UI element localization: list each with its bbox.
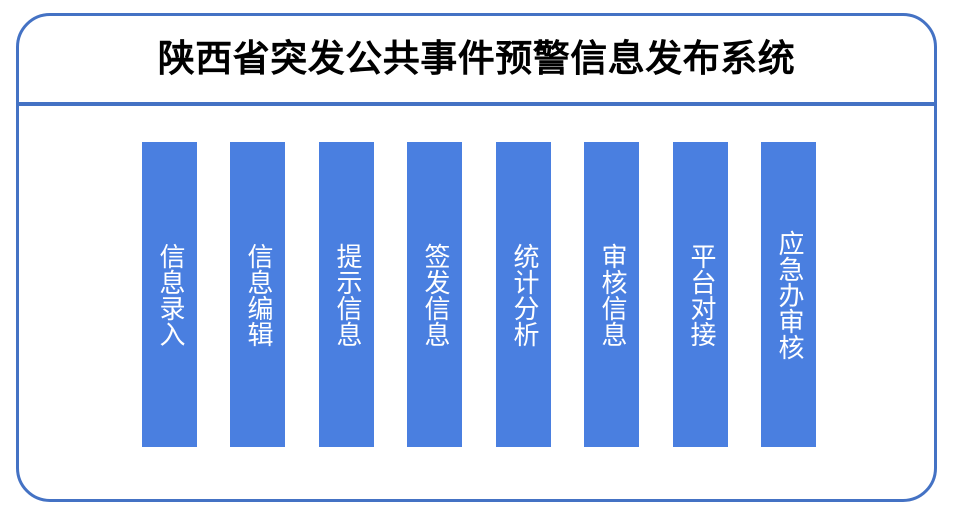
diagram-canvas: 陕西省突发公共事件预警信息发布系统 信息录入 信息编辑 提示信息 签发信息 统计… <box>0 0 955 516</box>
module-bar-prompt-information[interactable]: 提示信息 <box>319 142 374 447</box>
module-bar-label: 应急办审核 <box>774 230 803 360</box>
module-bar-label: 签发信息 <box>420 243 449 347</box>
module-bar-issue-information[interactable]: 签发信息 <box>407 142 462 447</box>
module-bar-label: 审核信息 <box>597 243 626 347</box>
diagram-outer-frame: 陕西省突发公共事件预警信息发布系统 信息录入 信息编辑 提示信息 签发信息 统计… <box>16 13 937 502</box>
module-bar-label: 统计分析 <box>509 243 538 347</box>
module-bar-label: 提示信息 <box>332 243 361 347</box>
module-bar-statistical-analysis[interactable]: 统计分析 <box>496 142 551 447</box>
page-title: 陕西省突发公共事件预警信息发布系统 <box>158 40 796 79</box>
module-bar-platform-docking[interactable]: 平台对接 <box>673 142 728 447</box>
module-bar-label: 信息编辑 <box>243 243 272 347</box>
module-bars-row: 信息录入 信息编辑 提示信息 签发信息 统计分析 审核信息 平台对接 应急办审 <box>19 106 934 499</box>
module-bar-review-information[interactable]: 审核信息 <box>584 142 639 447</box>
module-bar-information-entry[interactable]: 信息录入 <box>142 142 197 447</box>
module-bar-label: 信息录入 <box>155 243 184 347</box>
diagram-header: 陕西省突发公共事件预警信息发布系统 <box>19 16 934 102</box>
module-bar-label: 平台对接 <box>686 243 715 347</box>
module-bar-information-edit[interactable]: 信息编辑 <box>230 142 285 447</box>
module-bar-emergency-office-review[interactable]: 应急办审核 <box>761 142 816 447</box>
